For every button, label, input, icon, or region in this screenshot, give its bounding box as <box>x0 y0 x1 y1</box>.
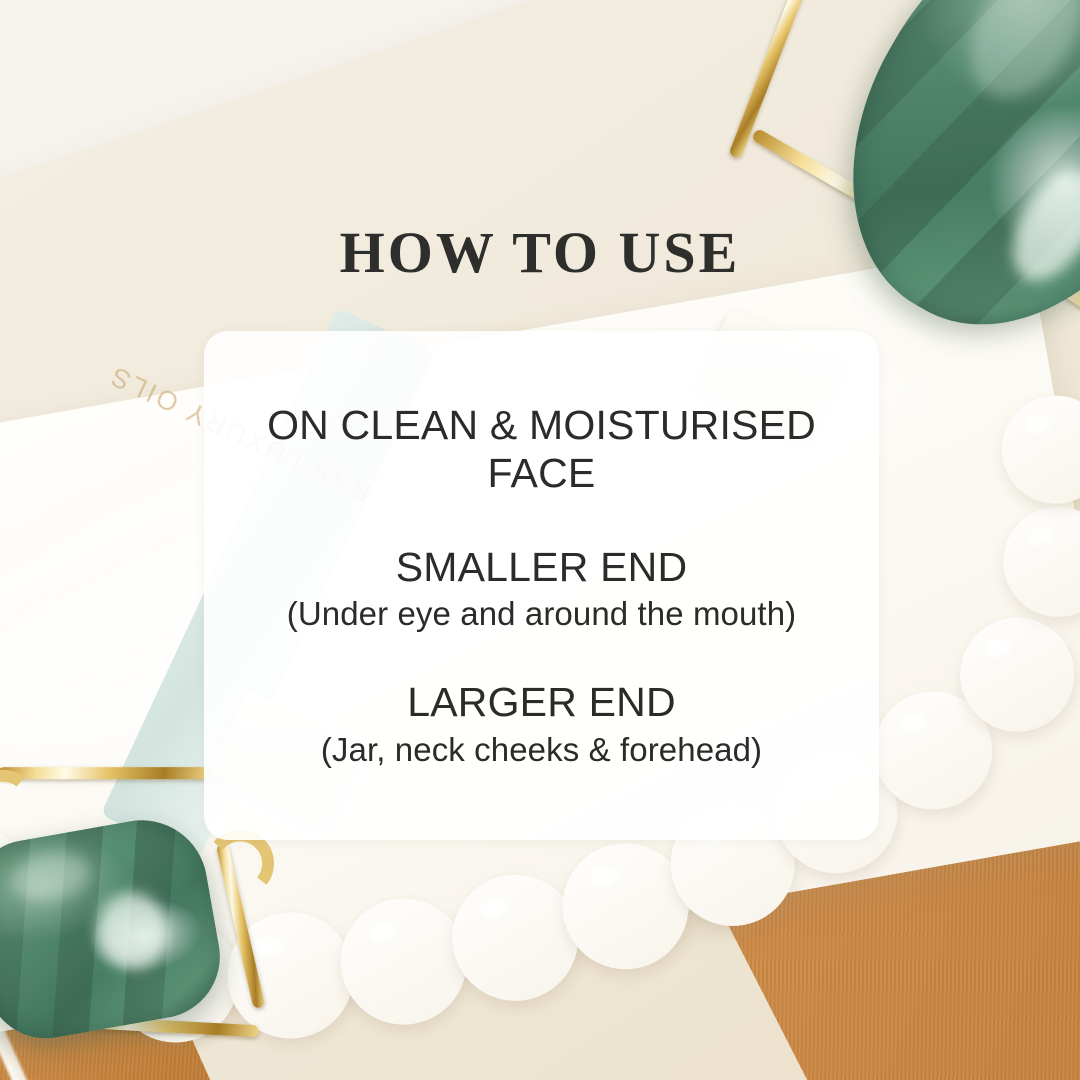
gold-frame-arm-upper-2 <box>0 767 210 779</box>
page-title: HOW TO USE <box>0 219 1080 286</box>
instruction-heading-3: LARGER END <box>230 679 853 727</box>
instruction-subtext-3: (Jar, neck cheeks & forehead) <box>230 731 853 769</box>
instruction-block-3: LARGER END (Jar, neck cheeks & forehead) <box>230 679 853 769</box>
instructions-card: ON CLEAN & MOISTURISED FACE SMALLER END … <box>204 331 879 840</box>
instruction-heading-1-line2: FACE <box>230 450 853 498</box>
instruction-block-1: ON CLEAN & MOISTURISED FACE <box>230 402 853 497</box>
instructions-card-content: ON CLEAN & MOISTURISED FACE SMALLER END … <box>204 331 879 840</box>
instruction-subtext-2: (Under eye and around the mouth) <box>230 595 853 633</box>
instruction-heading-1: ON CLEAN & MOISTURISED <box>230 402 853 450</box>
instruction-block-2: SMALLER END (Under eye and around the mo… <box>230 544 853 634</box>
instruction-heading-2: SMALLER END <box>230 544 853 592</box>
jade-stone-small <box>0 810 230 1048</box>
product-instruction-graphic: RAS LUXURY OILS <box>0 0 1080 1080</box>
